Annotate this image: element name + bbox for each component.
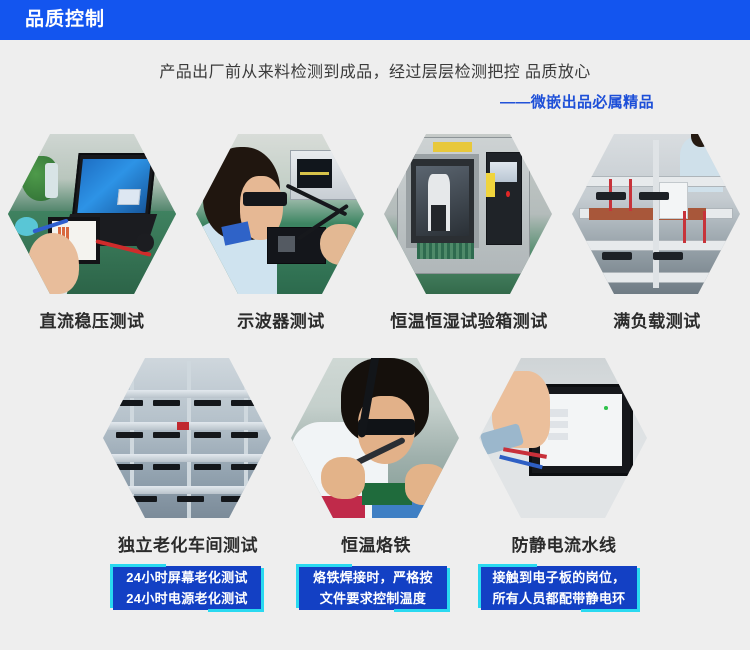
constant-temp-soldering-iron-photo bbox=[291, 358, 459, 518]
callout-box-soldering-temperature[interactable]: 烙铁焊接时，严格按 文件要求控制温度 bbox=[299, 566, 447, 610]
callout-accent-right bbox=[447, 568, 450, 612]
full-load-test-photo bbox=[572, 134, 740, 294]
oscilloscope-test-photo bbox=[196, 134, 364, 294]
callout-accent-bottom bbox=[208, 609, 264, 612]
hex-photo-cell-dc-regulated-power-test[interactable] bbox=[8, 134, 176, 294]
hex-label-aging-workshop-test: 独立老化车间测试 bbox=[118, 531, 258, 556]
callout-accent-bottom bbox=[394, 609, 450, 612]
subtitle-block: 产品出厂前从来料检测到成品，经过层层检测把控 品质放心 ——微嵌出品必属精品 bbox=[0, 60, 750, 116]
dc-regulated-power-test-photo bbox=[8, 134, 176, 294]
callout-line-2: 24小时电源老化测试 bbox=[126, 588, 247, 609]
hex-photo-cell-constant-temp-soldering-iron[interactable] bbox=[291, 358, 459, 518]
hex-photo-cell-anti-static-production-line[interactable] bbox=[479, 358, 647, 518]
hex-label-constant-temp-humidity-chamber-test: 恒温恒湿试验箱测试 bbox=[390, 307, 548, 332]
callout-accent-top bbox=[478, 564, 537, 567]
callout-accent-left bbox=[110, 564, 113, 608]
constant-temp-humidity-chamber-photo bbox=[384, 134, 552, 294]
callout-accent-right bbox=[637, 568, 640, 612]
callout-accent-right bbox=[261, 568, 264, 612]
callout-line-2: 文件要求控制温度 bbox=[320, 588, 426, 609]
callout-line-2: 所有人员都配带静电环 bbox=[492, 588, 625, 609]
callout-accent-left bbox=[296, 564, 299, 608]
hex-label-constant-temp-soldering-iron: 恒温烙铁 bbox=[341, 531, 411, 556]
page-title: 品质控制 bbox=[25, 9, 105, 31]
callout-box-esd-wrist-strap[interactable]: 接触到电子板的岗位， 所有人员都配带静电环 bbox=[481, 566, 637, 610]
callout-accent-left bbox=[478, 564, 481, 608]
hex-label-oscilloscope-test: 示波器测试 bbox=[237, 307, 325, 332]
hex-label-dc-regulated-power-test: 直流稳压测试 bbox=[40, 307, 145, 332]
subtitle-signature-text: ——微嵌出品必属精品 bbox=[0, 90, 750, 116]
hex-photo-cell-full-load-test[interactable] bbox=[572, 134, 740, 294]
section-header-banner: 品质控制 bbox=[0, 0, 750, 40]
aging-workshop-test-photo bbox=[103, 358, 271, 518]
callout-line-1: 接触到电子板的岗位， bbox=[492, 567, 625, 588]
hex-photo-cell-aging-workshop-test[interactable] bbox=[103, 358, 271, 518]
hex-label-full-load-test: 满负载测试 bbox=[613, 307, 701, 332]
callout-accent-bottom bbox=[581, 609, 640, 612]
anti-static-production-line-photo bbox=[479, 358, 647, 518]
callout-line-1: 烙铁焊接时，严格按 bbox=[313, 567, 433, 588]
callout-line-1: 24小时屏幕老化测试 bbox=[126, 567, 247, 588]
callout-accent-top bbox=[110, 564, 166, 567]
callout-box-aging-test[interactable]: 24小时屏幕老化测试 24小时电源老化测试 bbox=[113, 566, 261, 610]
subtitle-primary-text: 产品出厂前从来料检测到成品，经过层层检测把控 品质放心 bbox=[0, 60, 750, 86]
hex-photo-cell-oscilloscope-test[interactable] bbox=[196, 134, 364, 294]
callout-accent-top bbox=[296, 564, 352, 567]
hex-label-anti-static-production-line: 防静电流水线 bbox=[512, 531, 617, 556]
hex-photo-cell-constant-temp-humidity-chamber-test[interactable] bbox=[384, 134, 552, 294]
